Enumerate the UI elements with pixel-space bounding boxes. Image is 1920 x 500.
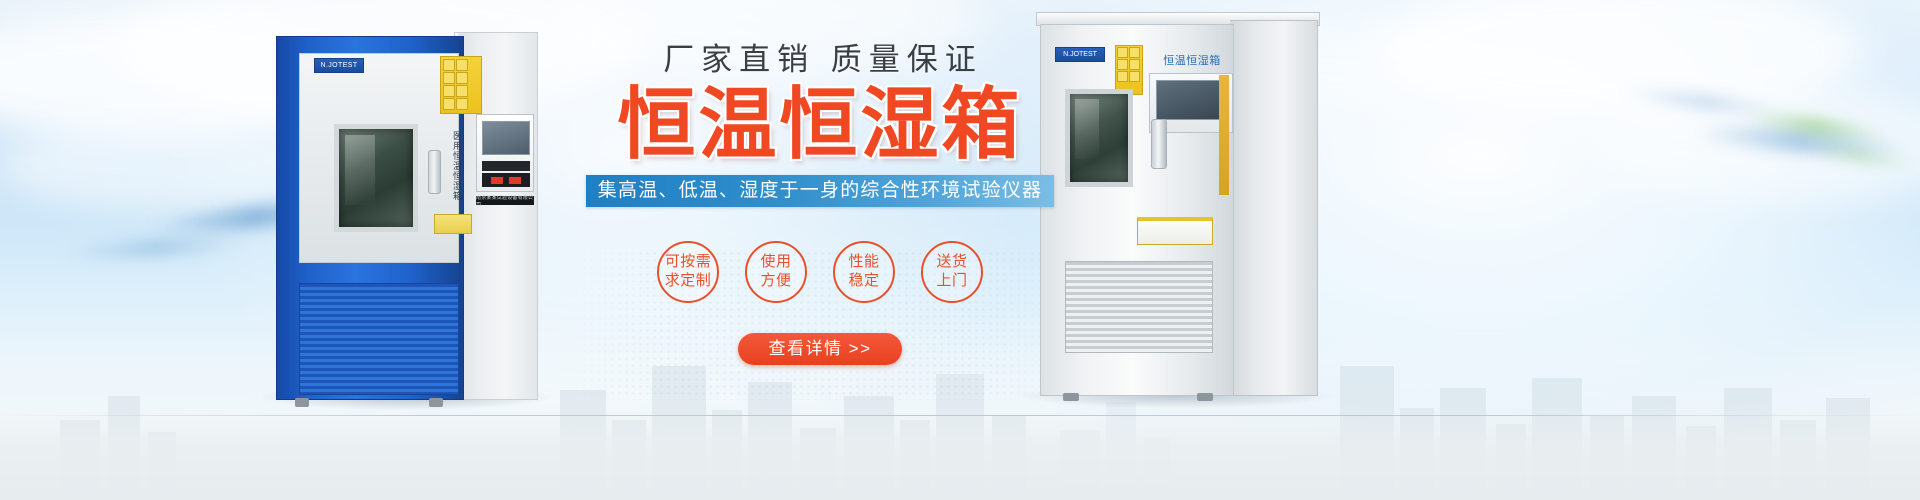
door-handle bbox=[1151, 119, 1167, 169]
product-body: N.JOTEST 医用恒温恒湿箱 bbox=[276, 36, 464, 400]
product-front-face: N.JOTEST 医用恒温恒湿箱 bbox=[299, 53, 459, 263]
controller-screen bbox=[1156, 80, 1228, 120]
spec-sticker bbox=[1137, 217, 1213, 245]
feature-badge-2-line2: 方便 bbox=[760, 272, 791, 290]
feature-badge-list: 可按需 求定制 使用 方便 性能 稳定 送货 上门 bbox=[570, 241, 1070, 303]
controller-screen bbox=[482, 121, 530, 155]
feature-badge-1-line2: 求定制 bbox=[665, 272, 712, 290]
feature-badge-4[interactable]: 送货 上门 bbox=[921, 241, 983, 303]
feature-badge-3[interactable]: 性能 稳定 bbox=[833, 241, 895, 303]
feature-badge-2[interactable]: 使用 方便 bbox=[745, 241, 807, 303]
controller-module: 南京某某试验设备有限公司 bbox=[464, 62, 540, 212]
chamber-window bbox=[1065, 89, 1133, 187]
feature-badge-4-line1: 送货 bbox=[936, 253, 967, 271]
warning-stripe bbox=[1219, 75, 1229, 195]
kicker-text: 厂家直销 质量保证 bbox=[576, 44, 1070, 75]
page-title: 恒温恒湿箱 bbox=[570, 83, 1070, 166]
product-image-left: N.JOTEST 医用恒温恒湿箱 南京某某试验设备有 bbox=[268, 22, 538, 400]
feature-badge-2-line1: 使用 bbox=[760, 253, 791, 271]
feature-badge-1-line1: 可按需 bbox=[665, 253, 712, 271]
chamber-window bbox=[334, 124, 418, 232]
subtitle-bar: 集高温、低温、湿度于一身的综合性环境试验仪器 bbox=[586, 175, 1054, 207]
spec-sticker bbox=[434, 214, 472, 234]
brand-logo: N.JOTEST bbox=[314, 58, 364, 73]
product-foot bbox=[429, 398, 443, 407]
product-title-plate: 恒温恒湿箱 bbox=[1149, 51, 1235, 69]
promo-banner: N.JOTEST 医用恒温恒湿箱 南京某某试验设备有 bbox=[0, 0, 1920, 500]
feature-badge-3-line1: 性能 bbox=[848, 253, 879, 271]
banner-copy: 厂家直销 质量保证 恒温恒湿箱 集高温、低温、湿度于一身的综合性环境试验仪器 可… bbox=[570, 44, 1070, 444]
controller-buttons bbox=[482, 173, 530, 187]
ventilation-grille bbox=[1065, 261, 1213, 353]
warning-label bbox=[1115, 45, 1143, 95]
feature-badge-3-line2: 稳定 bbox=[848, 272, 879, 290]
ventilation-grille bbox=[299, 283, 459, 395]
product-foot bbox=[295, 398, 309, 407]
view-details-button[interactable]: 查看详情 >> bbox=[738, 333, 901, 365]
cta-container: 查看详情 >> bbox=[570, 333, 1070, 365]
feature-badge-1[interactable]: 可按需 求定制 bbox=[657, 241, 719, 303]
door-handle bbox=[428, 150, 441, 194]
product-foot bbox=[1197, 393, 1213, 401]
feature-badge-4-line2: 上门 bbox=[936, 272, 967, 290]
controller-readout bbox=[482, 161, 530, 171]
product-panel-label: 医用恒温恒湿箱 bbox=[450, 116, 464, 216]
product-side-panel bbox=[1230, 20, 1318, 396]
controller-panel bbox=[476, 114, 534, 192]
company-footer-label: 南京某某试验设备有限公司 bbox=[476, 196, 534, 205]
product-image-right: N.JOTEST 恒温恒湿箱 bbox=[1030, 8, 1320, 400]
